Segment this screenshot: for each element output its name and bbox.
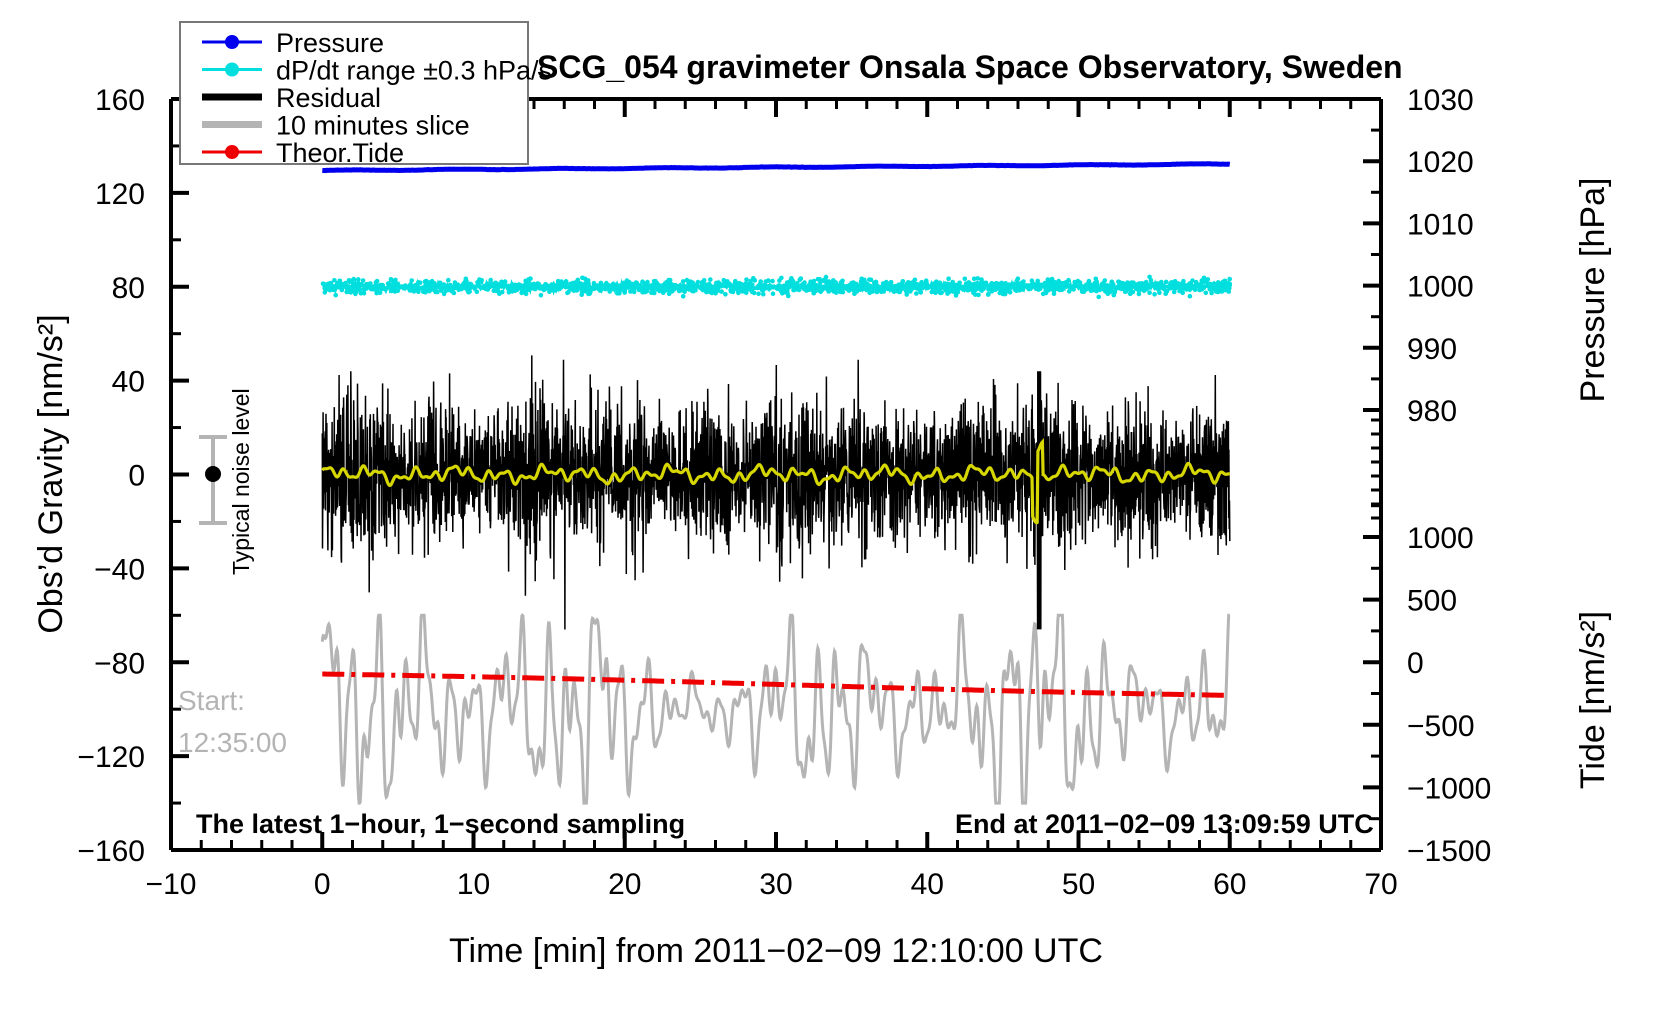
left-tick-label: 0 bbox=[128, 460, 145, 493]
dpdt-point bbox=[1147, 275, 1152, 280]
dpdt-point bbox=[700, 280, 705, 285]
dpdt-point bbox=[904, 289, 909, 294]
dpdt-point bbox=[719, 289, 724, 294]
dpdt-point bbox=[612, 283, 617, 288]
dpdt-point bbox=[1094, 289, 1099, 294]
left-tick-label: −160 bbox=[77, 835, 145, 868]
dpdt-point bbox=[1227, 286, 1232, 291]
dpdt-point bbox=[973, 292, 978, 297]
dpdt-point bbox=[1152, 292, 1157, 297]
dpdt-point bbox=[682, 290, 687, 295]
dpdt-point bbox=[708, 277, 713, 282]
dpdt-point bbox=[1007, 283, 1012, 288]
dpdt-point bbox=[873, 280, 878, 285]
dpdt-point bbox=[1089, 289, 1094, 294]
dpdt-point bbox=[1043, 281, 1048, 286]
dpdt-point bbox=[667, 292, 672, 297]
x-tick-label: 20 bbox=[608, 868, 641, 901]
dpdt-point bbox=[708, 283, 713, 288]
dpdt-point bbox=[744, 277, 749, 282]
dpdt-point bbox=[807, 287, 812, 292]
dpdt-point bbox=[1152, 283, 1157, 288]
dpdt-point bbox=[505, 284, 510, 289]
left-tick-label: 80 bbox=[112, 272, 145, 305]
dpdt-point bbox=[622, 290, 627, 295]
dpdt-point bbox=[712, 285, 717, 290]
dpdt-point bbox=[1013, 288, 1018, 293]
dpdt-point bbox=[812, 279, 817, 284]
dpdt-point bbox=[346, 284, 351, 289]
legend: PressuredP/dt range ±0.3 hPa/sResidual10… bbox=[180, 22, 552, 168]
dpdt-point bbox=[1207, 284, 1212, 289]
dpdt-point bbox=[1192, 284, 1197, 289]
dpdt-point bbox=[1034, 286, 1039, 291]
dpdt-point bbox=[736, 283, 741, 288]
dpdt-point bbox=[646, 283, 651, 288]
dpdt-point bbox=[1227, 277, 1232, 282]
dpdt-point bbox=[718, 284, 723, 289]
dpdt-point bbox=[786, 281, 791, 286]
dpdt-point bbox=[1113, 290, 1118, 295]
dpdt-point bbox=[514, 283, 519, 288]
dpdt-point bbox=[847, 284, 852, 289]
x-tick-label: 50 bbox=[1062, 868, 1095, 901]
dpdt-point bbox=[1221, 280, 1226, 285]
dpdt-point bbox=[1127, 283, 1132, 288]
x-tick-label: 0 bbox=[314, 868, 331, 901]
dpdt-point bbox=[1008, 290, 1013, 295]
dpdt-point bbox=[822, 279, 827, 284]
dpdt-point bbox=[622, 283, 627, 288]
dpdt-point bbox=[413, 283, 418, 288]
dpdt-point bbox=[761, 292, 766, 297]
x-tick-label: 70 bbox=[1364, 868, 1397, 901]
dpdt-point bbox=[696, 280, 701, 285]
dpdt-point bbox=[686, 281, 691, 286]
dpdt-point bbox=[652, 291, 657, 296]
dpdt-point bbox=[551, 282, 556, 287]
dpdt-point bbox=[834, 290, 839, 295]
dpdt-point bbox=[488, 278, 493, 283]
x-axis-title: Time [min] from 2011−02−09 12:10:00 UTC bbox=[449, 932, 1103, 970]
legend-label: Residual bbox=[276, 83, 381, 113]
tide-tick-label: 1000 bbox=[1407, 522, 1474, 555]
dpdt-point bbox=[986, 292, 991, 297]
dpdt-point bbox=[828, 282, 833, 287]
dpdt-point bbox=[335, 281, 340, 286]
dpdt-point bbox=[344, 290, 349, 295]
dpdt-point bbox=[412, 289, 417, 294]
dpdt-point bbox=[693, 288, 698, 293]
dpdt-point bbox=[797, 288, 802, 293]
dpdt-point bbox=[525, 288, 530, 293]
dpdt-point bbox=[327, 285, 332, 290]
dpdt-point bbox=[730, 284, 735, 289]
dpdt-point bbox=[509, 287, 514, 292]
dpdt-point bbox=[567, 284, 572, 289]
dpdt-point bbox=[1020, 287, 1025, 292]
tide-tick-label: −1000 bbox=[1407, 772, 1491, 805]
dpdt-point bbox=[690, 282, 695, 287]
dpdt-point bbox=[1029, 282, 1034, 287]
dpdt-point bbox=[774, 286, 779, 291]
dpdt-point bbox=[347, 280, 352, 285]
dpdt-point bbox=[771, 291, 776, 296]
dpdt-point bbox=[1038, 283, 1043, 288]
dpdt-point bbox=[492, 288, 497, 293]
dpdt-point bbox=[756, 292, 761, 297]
y-axis-right-tide-title: Tide [nm/s²] bbox=[1574, 611, 1612, 789]
dpdt-point bbox=[557, 287, 562, 292]
dpdt-point bbox=[896, 282, 901, 287]
dpdt-point bbox=[1115, 286, 1120, 291]
x-tick-label: −10 bbox=[146, 868, 197, 901]
x-tick-label: 10 bbox=[457, 868, 490, 901]
dpdt-point bbox=[453, 284, 458, 289]
dpdt-point bbox=[766, 278, 771, 283]
dpdt-point bbox=[838, 283, 843, 288]
dpdt-point bbox=[747, 286, 752, 291]
pressure-tick-label: 1020 bbox=[1407, 146, 1474, 179]
dpdt-point bbox=[981, 287, 986, 292]
dpdt-point bbox=[851, 287, 856, 292]
dpdt-point bbox=[581, 282, 586, 287]
dpdt-point bbox=[476, 282, 481, 287]
dpdt-point bbox=[377, 285, 382, 290]
dpdt-point bbox=[791, 288, 796, 293]
dpdt-point bbox=[1199, 282, 1204, 287]
dpdt-point bbox=[332, 288, 337, 293]
legend-label: Pressure bbox=[276, 28, 384, 58]
dpdt-point bbox=[859, 277, 864, 282]
dpdt-point bbox=[1222, 287, 1227, 292]
dpdt-point bbox=[657, 289, 662, 294]
dpdt-point bbox=[1165, 289, 1170, 294]
dpdt-point bbox=[539, 293, 544, 298]
dpdt-point bbox=[446, 278, 451, 283]
dpdt-point bbox=[435, 290, 440, 295]
dpdt-point bbox=[617, 287, 622, 292]
gravimeter-chart: 16012080400−40−80−120−160 10301020101010… bbox=[0, 0, 1676, 1020]
dpdt-point bbox=[403, 285, 408, 290]
pressure-tick-label: 980 bbox=[1407, 395, 1457, 428]
dpdt-point bbox=[907, 281, 912, 286]
page-title: SCG_054 gravimeter Onsala Space Observat… bbox=[537, 49, 1403, 85]
left-tick-label: −40 bbox=[94, 553, 145, 586]
dpdt-point bbox=[356, 277, 361, 282]
dpdt-point bbox=[704, 286, 709, 291]
legend-marker-dot bbox=[225, 35, 239, 49]
dpdt-point bbox=[672, 287, 677, 292]
dpdt-point bbox=[547, 288, 552, 293]
dpdt-point bbox=[497, 292, 502, 297]
dpdt-point bbox=[464, 277, 469, 282]
dpdt-point bbox=[576, 282, 581, 287]
dpdt-point bbox=[758, 279, 763, 284]
dpdt-point bbox=[851, 280, 856, 285]
sampling-note: The latest 1−hour, 1−second sampling bbox=[196, 809, 685, 839]
pressure-tick-label: 1000 bbox=[1407, 271, 1474, 304]
dpdt-point bbox=[438, 281, 443, 286]
dpdt-point bbox=[654, 282, 659, 287]
dpdt-point bbox=[785, 289, 790, 294]
dpdt-point bbox=[949, 283, 954, 288]
dpdt-point bbox=[1188, 294, 1193, 299]
dpdt-point bbox=[438, 286, 443, 291]
dpdt-point bbox=[1027, 287, 1032, 292]
left-tick-label: −120 bbox=[77, 741, 145, 774]
dpdt-point bbox=[591, 286, 596, 291]
dpdt-point bbox=[687, 287, 692, 292]
dpdt-point bbox=[972, 282, 977, 287]
dpdt-point bbox=[349, 290, 354, 295]
dpdt-point bbox=[364, 286, 369, 291]
y-axis-left-title: Obs’d Gravity [nm/s²] bbox=[32, 314, 70, 633]
dpdt-point bbox=[598, 288, 603, 293]
dpdt-point bbox=[394, 288, 399, 293]
noise-center-dot bbox=[205, 466, 221, 482]
dpdt-point bbox=[638, 287, 643, 292]
dpdt-point bbox=[1164, 280, 1169, 285]
dpdt-point bbox=[736, 291, 741, 296]
dpdt-point bbox=[543, 282, 548, 287]
dpdt-point bbox=[525, 284, 530, 289]
dpdt-point bbox=[756, 286, 761, 291]
dpdt-point bbox=[425, 283, 430, 288]
dpdt-point bbox=[1204, 291, 1209, 296]
dpdt-point bbox=[537, 282, 542, 287]
dpdt-point bbox=[888, 285, 893, 290]
dpdt-point bbox=[951, 289, 956, 294]
dpdt-point bbox=[790, 284, 795, 289]
dpdt-point bbox=[698, 286, 703, 291]
dpdt-point bbox=[982, 282, 987, 287]
dpdt-point bbox=[1016, 281, 1021, 286]
dpdt-point bbox=[418, 280, 423, 285]
dpdt-point bbox=[1071, 285, 1076, 290]
dpdt-point bbox=[408, 282, 413, 287]
dpdt-point bbox=[583, 288, 588, 293]
dpdt-point bbox=[1140, 284, 1145, 289]
x-tick-label: 40 bbox=[911, 868, 944, 901]
dpdt-point bbox=[779, 285, 784, 290]
dpdt-point bbox=[603, 287, 608, 292]
legend-label: dP/dt range ±0.3 hPa/s bbox=[276, 56, 552, 86]
dpdt-point bbox=[519, 283, 524, 288]
dpdt-point bbox=[1041, 292, 1046, 297]
dpdt-point bbox=[946, 276, 951, 281]
dpdt-point bbox=[416, 289, 421, 294]
dpdt-point bbox=[1108, 284, 1113, 289]
dpdt-point bbox=[838, 290, 843, 295]
start-label-line1: Start: bbox=[178, 685, 245, 716]
dpdt-point bbox=[729, 289, 734, 294]
dpdt-point bbox=[1217, 289, 1222, 294]
dpdt-point bbox=[1056, 286, 1061, 291]
dpdt-point bbox=[681, 294, 686, 299]
chart-page: 16012080400−40−80−120−160 10301020101010… bbox=[0, 0, 1676, 1020]
tide-tick-label: 500 bbox=[1407, 585, 1457, 618]
dpdt-point bbox=[867, 277, 872, 282]
dpdt-point bbox=[576, 278, 581, 283]
dpdt-point bbox=[914, 291, 919, 296]
dpdt-point bbox=[761, 288, 766, 293]
dpdt-point bbox=[1096, 295, 1101, 300]
dpdt-point bbox=[1107, 288, 1112, 293]
dpdt-point bbox=[444, 289, 449, 294]
dpdt-point bbox=[767, 284, 772, 289]
dpdt-point bbox=[770, 279, 775, 284]
y-axis-right-pressure-title: Pressure [hPa] bbox=[1574, 178, 1612, 403]
dpdt-point bbox=[934, 281, 939, 286]
dpdt-point bbox=[1211, 287, 1216, 292]
dpdt-point bbox=[822, 286, 827, 291]
dpdt-point bbox=[884, 281, 889, 286]
dpdt-point bbox=[943, 288, 948, 293]
dpdt-point bbox=[1116, 279, 1121, 284]
dpdt-point bbox=[524, 292, 529, 297]
dpdt-point bbox=[1044, 285, 1049, 290]
dpdt-point bbox=[1110, 280, 1115, 285]
dpdt-point bbox=[519, 291, 524, 296]
dpdt-point bbox=[604, 282, 609, 287]
dpdt-point bbox=[389, 289, 394, 294]
dpdt-point bbox=[919, 290, 924, 295]
noise-level-label: Typical noise level bbox=[228, 388, 254, 575]
dpdt-point bbox=[857, 283, 862, 288]
dpdt-point bbox=[615, 291, 620, 296]
dpdt-point bbox=[881, 289, 886, 294]
dpdt-point bbox=[467, 290, 472, 295]
dpdt-point bbox=[786, 294, 791, 299]
dpdt-point bbox=[1190, 278, 1195, 283]
dpdt-point bbox=[340, 288, 345, 293]
dpdt-point bbox=[1048, 280, 1053, 285]
dpdt-point bbox=[668, 284, 673, 289]
dpdt-point bbox=[362, 291, 367, 296]
dpdt-point bbox=[630, 282, 635, 287]
dpdt-point bbox=[1202, 286, 1207, 291]
dpdt-point bbox=[802, 282, 807, 287]
left-tick-label: −80 bbox=[94, 647, 145, 680]
dpdt-point bbox=[972, 277, 977, 282]
dpdt-point bbox=[965, 287, 970, 292]
dpdt-point bbox=[1064, 280, 1069, 285]
dpdt-point bbox=[799, 276, 804, 281]
dpdt-point bbox=[1137, 288, 1142, 293]
dpdt-point bbox=[1087, 281, 1092, 286]
dpdt-point bbox=[779, 276, 784, 281]
dpdt-point bbox=[515, 287, 520, 292]
dpdt-point bbox=[1157, 290, 1162, 295]
dpdt-point bbox=[586, 292, 591, 297]
dpdt-point bbox=[1052, 292, 1057, 297]
dpdt-point bbox=[924, 278, 929, 283]
x-tick-label: 60 bbox=[1213, 868, 1246, 901]
dpdt-point bbox=[430, 279, 435, 284]
dpdt-point bbox=[673, 283, 678, 288]
legend-label: Theor.Tide bbox=[276, 138, 404, 168]
dpdt-point bbox=[333, 293, 338, 298]
dpdt-point bbox=[723, 292, 728, 297]
dpdt-point bbox=[457, 288, 462, 293]
dpdt-point bbox=[1058, 281, 1063, 286]
dpdt-point bbox=[1122, 283, 1127, 288]
dpdt-point bbox=[1077, 285, 1082, 290]
dpdt-point bbox=[445, 284, 450, 289]
left-tick-label: 120 bbox=[95, 178, 145, 211]
dpdt-point bbox=[383, 287, 388, 292]
dpdt-point bbox=[559, 279, 564, 284]
start-label-line2: 12:35:00 bbox=[178, 727, 287, 758]
dpdt-point bbox=[1137, 281, 1142, 286]
dpdt-point bbox=[816, 286, 821, 291]
dpdt-point bbox=[752, 291, 757, 296]
tide-tick-label: −500 bbox=[1407, 710, 1475, 743]
dpdt-point bbox=[1000, 282, 1005, 287]
dpdt-point bbox=[663, 287, 668, 292]
dpdt-point bbox=[586, 281, 591, 286]
tide-tick-label: −1500 bbox=[1407, 835, 1491, 868]
dpdt-point bbox=[423, 290, 428, 295]
dpdt-point bbox=[994, 281, 999, 286]
dpdt-point bbox=[897, 290, 902, 295]
dpdt-point bbox=[870, 285, 875, 290]
dpdt-point bbox=[902, 285, 907, 290]
dpdt-point bbox=[831, 286, 836, 291]
dpdt-point bbox=[663, 281, 668, 286]
dpdt-point bbox=[1072, 280, 1077, 285]
dpdt-point bbox=[484, 287, 489, 292]
dpdt-point bbox=[475, 290, 480, 295]
legend-marker-dot bbox=[225, 145, 239, 159]
dpdt-point bbox=[1020, 281, 1025, 286]
dpdt-point bbox=[1162, 284, 1167, 289]
dpdt-point bbox=[1188, 287, 1193, 292]
x-tick-label: 30 bbox=[759, 868, 792, 901]
left-tick-label: 40 bbox=[112, 366, 145, 399]
dpdt-point bbox=[492, 284, 497, 289]
dpdt-point bbox=[1170, 285, 1175, 290]
dpdt-point bbox=[925, 284, 930, 289]
dpdt-point bbox=[566, 290, 571, 295]
pressure-tick-label: 990 bbox=[1407, 333, 1457, 366]
dpdt-point bbox=[677, 287, 682, 292]
dpdt-point bbox=[722, 279, 727, 284]
dpdt-point bbox=[378, 290, 383, 295]
dpdt-point bbox=[933, 287, 938, 292]
dpdt-point bbox=[998, 291, 1003, 296]
dpdt-point bbox=[1131, 290, 1136, 295]
dpdt-point bbox=[465, 282, 470, 287]
dpdt-point bbox=[503, 279, 508, 284]
dpdt-point bbox=[1095, 280, 1100, 285]
dpdt-point bbox=[1103, 278, 1108, 283]
pressure-tick-label: 1030 bbox=[1407, 84, 1474, 117]
dpdt-point bbox=[1147, 290, 1152, 295]
dpdt-point bbox=[1001, 286, 1006, 291]
pressure-tick-label: 1010 bbox=[1407, 208, 1474, 241]
dpdt-point bbox=[409, 278, 414, 283]
end-time-note: End at 2011−02−09 13:09:59 UTC bbox=[955, 809, 1374, 839]
dpdt-point bbox=[356, 287, 361, 292]
dpdt-point bbox=[667, 278, 672, 283]
dpdt-point bbox=[876, 288, 881, 293]
dpdt-point bbox=[955, 283, 960, 288]
dpdt-point bbox=[1067, 289, 1072, 294]
dpdt-point bbox=[1216, 281, 1221, 286]
dpdt-point bbox=[901, 279, 906, 284]
